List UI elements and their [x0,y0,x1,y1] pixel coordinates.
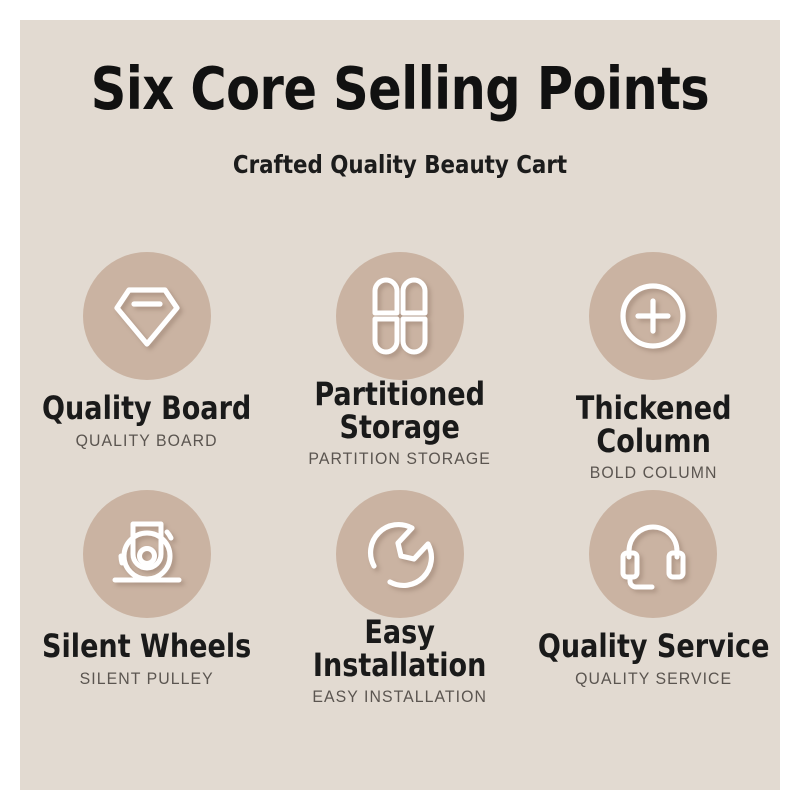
feature-title: Partitioned Storage [275,378,524,443]
feature-label-wrap: Quality Service QUALITY SERVICE [521,630,780,689]
wrench-icon [364,518,436,590]
feature-card-silent-wheels[interactable]: Silent Wheels SILENT PULLEY [20,490,273,728]
icon-badge [336,252,464,380]
feature-label-wrap: Silent Wheels SILENT PULLEY [20,630,279,689]
feature-label-wrap: Easy Installation EASY INSTALLATION [267,616,532,707]
feature-card-quality-board[interactable]: Quality Board QUALITY BOARD [20,252,273,490]
feature-card-partitioned-storage[interactable]: Partitioned Storage PARTITION STORAGE [273,252,526,490]
diamond-gem-icon [111,282,183,350]
headset-icon [618,519,688,589]
page-title: Six Core Selling Points [47,58,754,120]
feature-subtitle: EASY INSTALLATION [273,688,528,707]
plus-circle-icon [618,281,688,351]
feature-label-wrap: Thickened Column BOLD COLUMN [521,392,780,483]
feature-label-wrap: Quality Board QUALITY BOARD [20,392,279,451]
feature-subtitle: QUALITY BOARD [20,432,274,451]
poster-canvas: Six Core Selling Points Crafted Quality … [20,20,780,790]
icon-badge [83,490,211,618]
icon-badge [83,252,211,380]
page-subtitle: Crafted Quality Beauty Cart [39,150,761,179]
feature-title: Quality Service [529,630,778,663]
feature-subtitle: PARTITION STORAGE [273,450,528,469]
feature-title: Thickened Column [529,392,778,457]
feature-title: Easy Installation [275,616,524,681]
feature-grid: Quality Board QUALITY BOARD Partitioned … [20,252,780,728]
four-petal-partition-icon [365,281,435,351]
feature-title: Silent Wheels [22,630,271,663]
icon-badge [589,490,717,618]
icon-badge [589,252,717,380]
feature-subtitle: BOLD COLUMN [526,464,780,483]
feature-card-easy-installation[interactable]: Easy Installation EASY INSTALLATION [273,490,526,728]
feature-card-quality-service[interactable]: Quality Service QUALITY SERVICE [527,490,780,728]
feature-title: Quality Board [22,392,271,425]
feature-subtitle: QUALITY SERVICE [526,670,780,689]
poster-header: Six Core Selling Points Crafted Quality … [20,20,780,179]
feature-label-wrap: Partitioned Storage PARTITION STORAGE [267,378,532,469]
icon-badge [336,490,464,618]
caster-wheel-icon [109,518,185,590]
feature-subtitle: SILENT PULLEY [20,670,274,689]
feature-card-thickened-column[interactable]: Thickened Column BOLD COLUMN [527,252,780,490]
